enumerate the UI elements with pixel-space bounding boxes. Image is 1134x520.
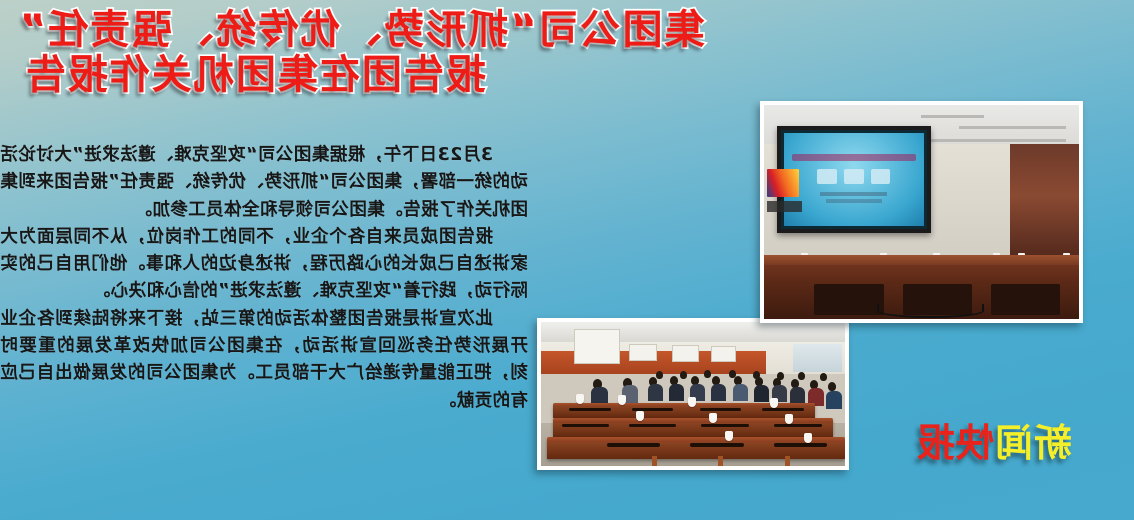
masthead-watermark: 新闻快报 xyxy=(916,412,1072,467)
article-body: 3月23日下午，根据集团公司“攻坚克难、遵法求进”大讨论活动的统一部署，集团公司… xyxy=(0,142,528,415)
article-paragraph: 3月23日下午，根据集团公司“攻坚克难、遵法求进”大讨论活动的统一部署，集团公司… xyxy=(0,142,528,224)
headline-line-2: 报告团在集团机关作报告 xyxy=(18,53,1018,98)
tea-cup xyxy=(688,397,696,407)
slide-title-band xyxy=(792,154,916,161)
article-paragraph: 报告团成员来自各个企业，不同的工作岗位，从不同层面为大家讲述自己成长的心路历程，… xyxy=(0,224,528,306)
conference-room-scene xyxy=(764,105,1079,319)
meeting-desk-row xyxy=(547,437,845,459)
wall-poster xyxy=(672,345,699,362)
headline-line-1: 集团公司“抓形势、优传统、强责任” xyxy=(18,8,1018,53)
masthead-red-text: 快报 xyxy=(916,421,994,465)
wood-wall-panel xyxy=(1010,144,1079,260)
tea-cup xyxy=(804,433,812,443)
company-logo xyxy=(767,169,799,197)
masthead-yellow-text: 新闻 xyxy=(994,421,1072,465)
page-title: 集团公司“抓形势、优传统、强责任” 报告团在集团机关作报告 xyxy=(18,8,1018,98)
tea-cup xyxy=(725,431,733,441)
head-table-photo xyxy=(760,101,1083,323)
wall-poster xyxy=(574,329,620,364)
tea-cup xyxy=(576,394,584,404)
wall-poster xyxy=(629,344,656,361)
wall-poster xyxy=(711,346,735,362)
projection-screen xyxy=(777,126,931,233)
slide-char-3 xyxy=(817,169,837,184)
article-paragraph: 此次宣讲是报告团整体活动的第三站，接下来将陆续到各企业开展形势任务巡回宣讲活动，… xyxy=(0,306,528,415)
slide-char-2 xyxy=(844,169,864,184)
head-table xyxy=(764,255,1079,319)
audience-room-scene xyxy=(541,322,845,466)
company-name-plate xyxy=(767,201,802,212)
slide-subtitle-2 xyxy=(826,199,882,203)
tea-cup xyxy=(709,413,717,423)
slide-subtitle-1 xyxy=(820,192,887,196)
microphone-cable xyxy=(877,304,984,318)
slide-char-1 xyxy=(871,169,891,184)
audience-photo xyxy=(537,318,849,470)
